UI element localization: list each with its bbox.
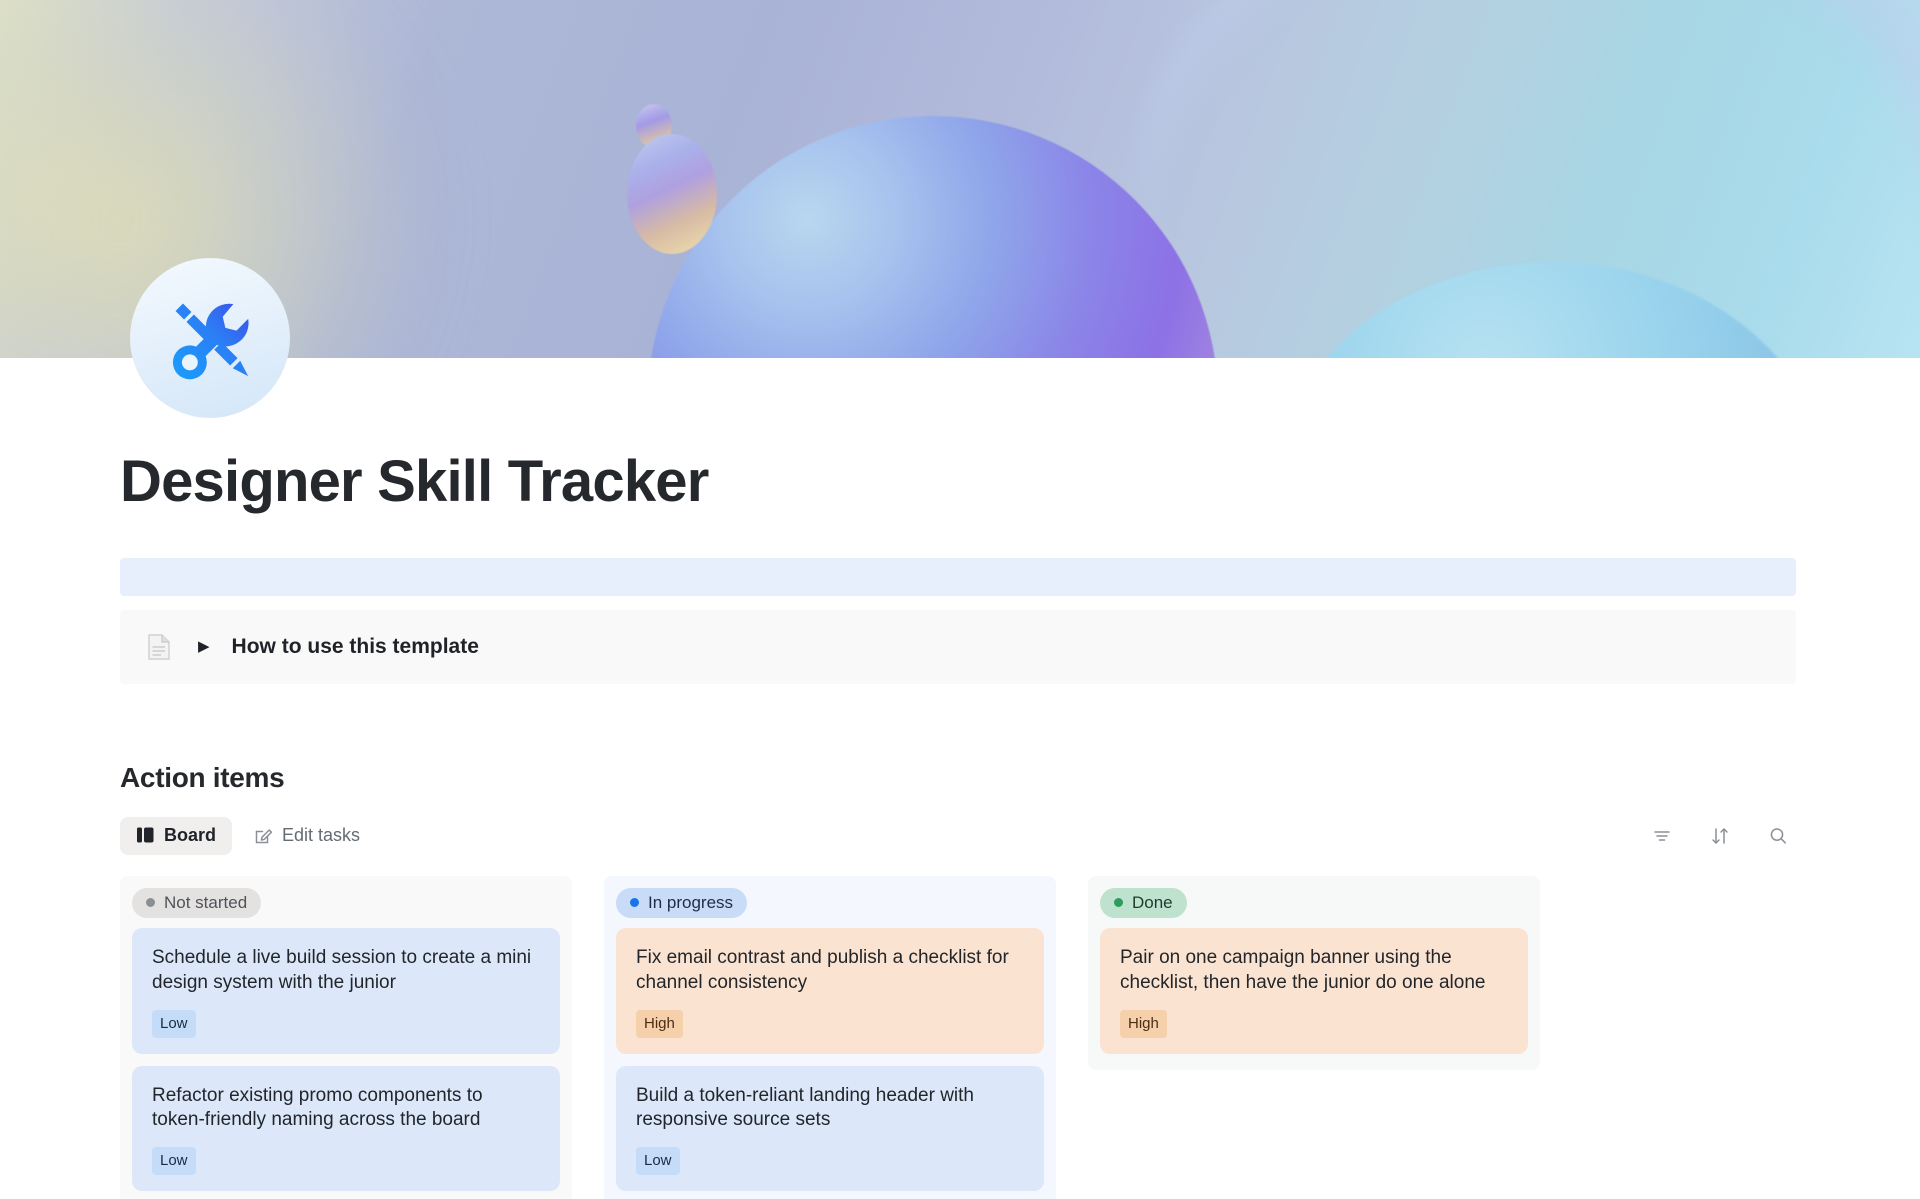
toggle-block-label: How to use this template	[232, 635, 479, 659]
board-column-not-started: Not started Schedule a live build sessio…	[120, 876, 572, 1199]
search-icon[interactable]	[1766, 824, 1790, 848]
tab-edit-tasks[interactable]: Edit tasks	[238, 817, 376, 855]
blue-callout	[120, 558, 1796, 596]
task-card[interactable]: Pair on one campaign banner using the ch…	[1100, 928, 1528, 1054]
section-title-action-items: Action items	[120, 762, 1800, 794]
filter-icon[interactable]	[1650, 824, 1674, 848]
task-card-title: Schedule a live build session to create …	[152, 946, 540, 996]
wrench-pencil-icon	[130, 258, 290, 418]
hero-banner	[0, 0, 1920, 358]
column-header-label: Done	[1132, 893, 1173, 913]
board-column-done: Done Pair on one campaign banner using t…	[1088, 876, 1540, 1070]
board-column-in-progress: In progress Fix email contrast and publi…	[604, 876, 1056, 1199]
task-card-title: Pair on one campaign banner using the ch…	[1120, 946, 1508, 996]
priority-badge: Low	[152, 1147, 196, 1175]
tab-board-label: Board	[164, 825, 216, 846]
board-icon	[136, 826, 155, 845]
hero-bubble-medium	[627, 134, 717, 254]
priority-badge: High	[1120, 1010, 1167, 1038]
priority-badge: Low	[152, 1010, 196, 1038]
page-body: Designer Skill Tracker ▶ How to use this…	[0, 358, 1920, 1199]
task-card[interactable]: Refactor existing promo components to to…	[132, 1066, 560, 1192]
column-header-in-progress[interactable]: In progress	[616, 888, 747, 918]
task-card[interactable]: Fix email contrast and publish a checkli…	[616, 928, 1044, 1054]
priority-badge: High	[636, 1010, 683, 1038]
tab-edit-tasks-label: Edit tasks	[282, 825, 360, 846]
board-toolbar	[1650, 824, 1796, 848]
view-tabbar: Board Edit tasks	[120, 816, 1796, 856]
tab-board[interactable]: Board	[120, 817, 232, 855]
hero-sphere-purple	[648, 116, 1218, 358]
column-header-label: Not started	[164, 893, 247, 913]
task-card-title: Fix email contrast and publish a checkli…	[636, 946, 1024, 996]
toggle-block-how-to-use[interactable]: ▶ How to use this template	[120, 610, 1796, 684]
page-title: Designer Skill Tracker	[120, 358, 1800, 514]
edit-icon	[254, 826, 273, 845]
task-card[interactable]: Build a token-reliant landing header wit…	[616, 1066, 1044, 1192]
status-dot-icon	[1114, 898, 1123, 907]
column-header-done[interactable]: Done	[1100, 888, 1187, 918]
view-tabs: Board Edit tasks	[120, 817, 376, 855]
task-card[interactable]: Schedule a live build session to create …	[132, 928, 560, 1054]
priority-badge: Low	[636, 1147, 680, 1175]
document-icon	[148, 634, 170, 660]
chevron-right-icon[interactable]: ▶	[198, 639, 210, 654]
page-content: Designer Skill Tracker ▶ How to use this…	[0, 358, 1920, 1199]
status-dot-icon	[146, 898, 155, 907]
column-header-label: In progress	[648, 893, 733, 913]
task-card-title: Build a token-reliant landing header wit…	[636, 1084, 1024, 1134]
task-card-title: Refactor existing promo components to to…	[152, 1084, 540, 1134]
status-dot-icon	[630, 898, 639, 907]
sort-icon[interactable]	[1708, 824, 1732, 848]
column-header-not-started[interactable]: Not started	[132, 888, 261, 918]
kanban-board: Not started Schedule a live build sessio…	[120, 876, 1796, 1199]
